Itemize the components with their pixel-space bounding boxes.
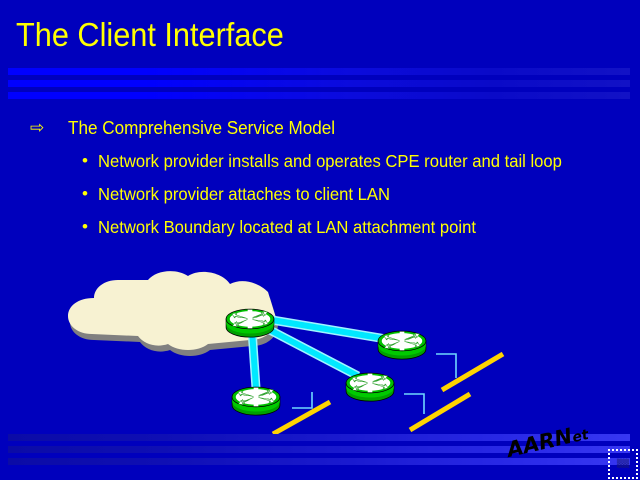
- page-number: ▒▒: [610, 459, 636, 468]
- lan-segment: [442, 354, 503, 390]
- bullet-level2-label: Network provider installs and operates C…: [98, 150, 562, 172]
- round-bullet-icon: •: [82, 150, 98, 172]
- lan-segment: [410, 394, 470, 430]
- cpe-router-bottom-left: [232, 387, 280, 415]
- bullet-level2-label: Network provider attaches to client LAN: [98, 183, 390, 205]
- decoration-bar: [8, 80, 630, 87]
- page-title: The Client Interface: [16, 16, 284, 54]
- bullet-level1: ⇨ The Comprehensive Service Model: [30, 116, 630, 140]
- core-router: [226, 309, 274, 337]
- decoration-bar: [8, 92, 630, 99]
- bullet-level2: • Network provider attaches to client LA…: [82, 183, 630, 205]
- bullet-level2: • Network Boundary located at LAN attach…: [82, 216, 630, 238]
- decoration-bar: [8, 68, 630, 75]
- bullet-level1-label: The Comprehensive Service Model: [68, 116, 335, 140]
- page-number-box: ▒▒: [608, 449, 638, 479]
- top-decoration-bars: [8, 68, 630, 104]
- bullet-level2-label: Network Boundary located at LAN attachme…: [98, 216, 476, 238]
- round-bullet-icon: •: [82, 216, 98, 238]
- cpe-router-right-lower: [346, 373, 394, 401]
- lan-segment: [273, 402, 330, 434]
- bullet-level2: • Network provider installs and operates…: [82, 150, 630, 172]
- cpe-router-right-upper: [378, 331, 426, 359]
- slide-canvas: The Client Interface ⇨ The Comprehensive…: [0, 0, 640, 480]
- aarnet-logo-main: AARN: [505, 424, 575, 462]
- slide-body: ⇨ The Comprehensive Service Model • Netw…: [30, 116, 630, 249]
- right-arrow-outline-icon: ⇨: [30, 116, 68, 140]
- network-diagram: [0, 262, 640, 442]
- aarnet-logo-suffix: et: [571, 427, 590, 446]
- aarnet-logo: AARNet: [510, 428, 610, 468]
- round-bullet-icon: •: [82, 183, 98, 205]
